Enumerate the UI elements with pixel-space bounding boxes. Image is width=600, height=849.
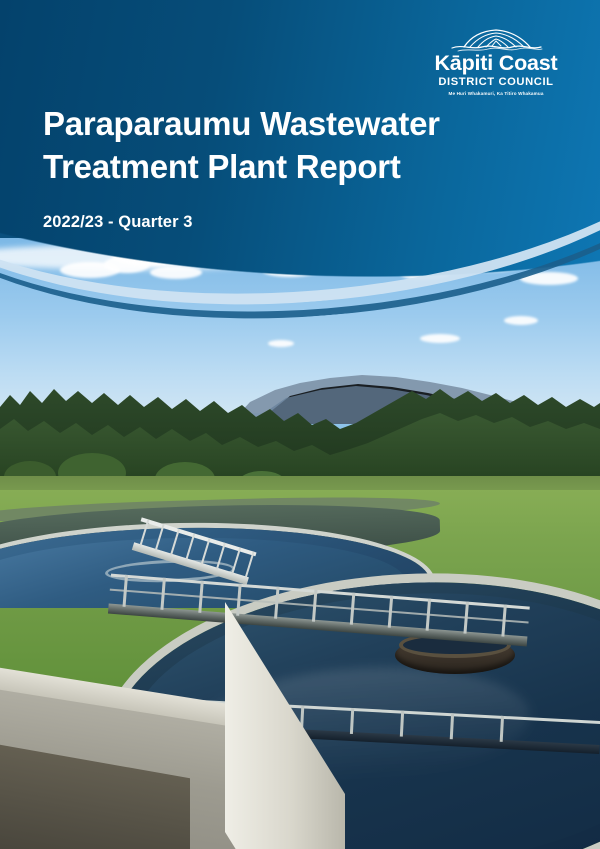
bridge-post [155, 524, 165, 551]
walkway-post-lower [500, 716, 504, 742]
page-title: Paraparaumu Wastewater Treatment Plant R… [43, 103, 543, 188]
bridge-post [201, 538, 211, 565]
bridge-post [231, 547, 241, 574]
bridge-post [216, 543, 226, 570]
page-title-line-1: Paraparaumu Wastewater [43, 103, 543, 146]
logo-motto: Me Huri Whakamuri, Ka Titiro Whakamua [426, 91, 566, 96]
report-cover-page: Kāpiti Coast DISTRICT COUNCIL Me Huri Wh… [0, 0, 600, 849]
bridge-post [139, 519, 149, 546]
logo-subtitle: DISTRICT COUNCIL [426, 76, 566, 89]
page-subtitle: 2022/23 - Quarter 3 [43, 213, 543, 232]
cloud [420, 334, 460, 343]
cloud [268, 340, 294, 347]
walkway-post-lower [450, 713, 454, 739]
kapiti-island-icon [448, 28, 544, 52]
title-block: Paraparaumu Wastewater Treatment Plant R… [43, 103, 543, 232]
bridge-post [185, 533, 195, 560]
bridge-post [170, 528, 180, 555]
logo-name: Kāpiti Coast [426, 53, 566, 75]
kapiti-coast-district-council-logo: Kāpiti Coast DISTRICT COUNCIL Me Huri Wh… [426, 28, 566, 96]
page-title-line-2: Treatment Plant Report [43, 146, 543, 189]
walkway-post-lower [400, 711, 404, 737]
walkway-post-lower [350, 708, 354, 734]
